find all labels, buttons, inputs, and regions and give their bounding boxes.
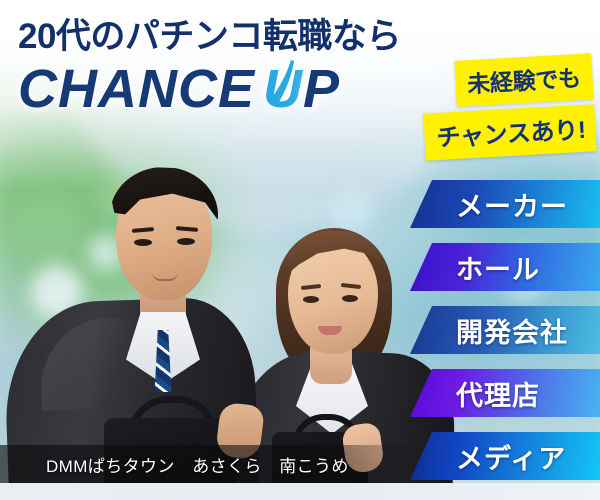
badge-line-2: チャンスあり! (423, 104, 597, 160)
woman-eye-right (342, 295, 358, 302)
category-bar-media[interactable]: メディア (410, 432, 600, 480)
headline-block: 20代のパチンコ転職なら CHANCEUP (18, 18, 418, 116)
logo-up-group: UP (263, 62, 340, 116)
category-bar-maker[interactable]: メーカー (410, 180, 600, 228)
headline-tagline: 20代のパチンコ転職なら (18, 18, 418, 56)
category-bar-hall[interactable]: ホール (410, 243, 600, 291)
bottom-strip (0, 483, 600, 500)
badge-line-1: 未経験でも (454, 53, 594, 107)
caption-band: DMMぱちタウン あさくら 南こうめ (0, 445, 430, 483)
category-label: 開発会社 (456, 311, 568, 350)
category-label: メーカー (456, 185, 568, 224)
logo-letter-u: U (263, 59, 303, 119)
category-bar-developer[interactable]: 開発会社 (410, 306, 600, 354)
category-label: ホール (456, 248, 540, 287)
woman-eye-left (303, 296, 319, 303)
bokeh-foliage-1 (12, 195, 82, 265)
logo-letter-p: P (303, 59, 340, 119)
man-eye-right (177, 238, 195, 245)
man-eye-left (134, 239, 152, 246)
caption-text: DMMぱちタウン あさくら 南こうめ (46, 452, 349, 477)
chance-up-banner: 20代のパチンコ転職なら CHANCEUP 未経験でも チャンスあり! メーカー… (0, 0, 600, 500)
category-bar-agency[interactable]: 代理店 (410, 369, 600, 417)
category-label: メディア (456, 437, 566, 476)
category-label: 代理店 (456, 374, 540, 413)
chance-up-logo: CHANCEUP (18, 62, 418, 116)
category-bar-list: メーカー ホール 開発会社 代理店 メディア (410, 180, 600, 480)
logo-word-chance: CHANCE (18, 59, 255, 119)
experience-badge: 未経験でも チャンスあり! (420, 53, 596, 160)
